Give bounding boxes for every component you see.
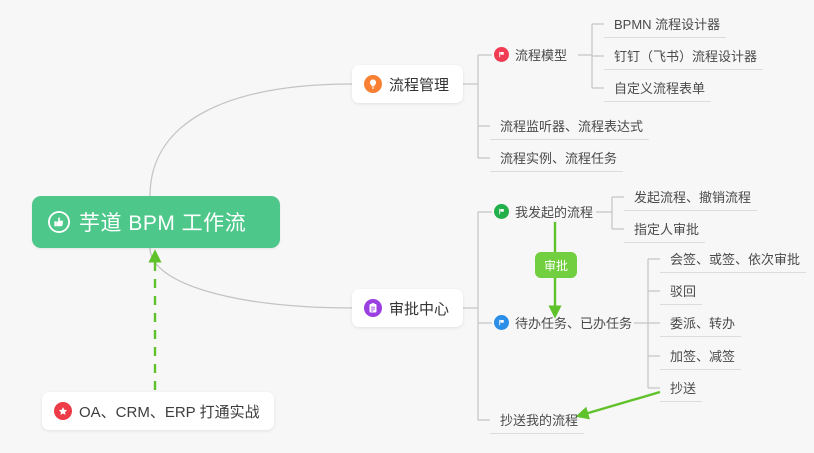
edge-tag-approval[interactable]: 审批	[535, 252, 577, 278]
leaf-label: 自定义流程表单	[614, 78, 705, 97]
leaf-delegate-transfer[interactable]: 委派、转办	[660, 309, 741, 337]
arrow-cc-to-my-cc	[578, 392, 660, 416]
leaf-label: 驳回	[670, 281, 696, 300]
leaf-label: 发起流程、撤销流程	[634, 187, 751, 206]
flag-icon	[494, 204, 509, 219]
leaf-dingtalk-designer[interactable]: 钉钉（飞书）流程设计器	[604, 42, 763, 70]
leaf-cc-to-me[interactable]: 抄送我的流程	[490, 406, 584, 434]
node-label: 审批中心	[389, 298, 449, 319]
leaf-label: 委派、转办	[670, 313, 735, 332]
root-label: 芋道 BPM 工作流	[79, 207, 246, 237]
node-label: 流程模型	[515, 45, 567, 64]
leaf-label: 加签、减签	[670, 346, 735, 365]
node-process-model[interactable]: 流程模型	[492, 41, 573, 69]
leaf-label: 流程监听器、流程表达式	[500, 116, 643, 135]
edge-root-to-process-management	[150, 84, 352, 196]
leaf-label: BPMN 流程设计器	[614, 14, 720, 33]
leaf-start-cancel-process[interactable]: 发起流程、撤销流程	[624, 183, 757, 211]
node-label: 流程管理	[389, 74, 449, 95]
leaf-countersign[interactable]: 会签、或签、依次审批	[660, 245, 806, 273]
node-label: 我发起的流程	[515, 202, 593, 221]
leaf-carbon-copy[interactable]: 抄送	[660, 374, 702, 402]
edge-tag-label: 审批	[544, 257, 568, 274]
leaf-label: 流程实例、流程任务	[500, 148, 617, 167]
leaf-bpmn-designer[interactable]: BPMN 流程设计器	[604, 10, 726, 38]
leaf-add-remove-sign[interactable]: 加签、减签	[660, 342, 741, 370]
leaf-label: 钉钉（飞书）流程设计器	[614, 46, 757, 65]
node-process-management[interactable]: 流程管理	[352, 65, 463, 103]
node-label: OA、CRM、ERP 打通实战	[79, 401, 260, 422]
flag-icon	[494, 315, 509, 330]
node-my-initiated[interactable]: 我发起的流程	[492, 198, 599, 226]
leaf-label: 会签、或签、依次审批	[670, 249, 800, 268]
leaf-custom-form[interactable]: 自定义流程表单	[604, 74, 711, 102]
lightbulb-icon	[364, 75, 382, 93]
node-approval-center[interactable]: 审批中心	[352, 289, 463, 327]
mindmap-canvas: 芋道 BPM 工作流 流程管理 流程模型 BPMN 流程设计器 钉钉（飞书）流程…	[0, 0, 814, 453]
leaf-reject[interactable]: 驳回	[660, 277, 702, 305]
edge-root-to-approval-center	[150, 248, 352, 308]
leaf-process-instance[interactable]: 流程实例、流程任务	[490, 144, 623, 172]
leaf-process-listener[interactable]: 流程监听器、流程表达式	[490, 112, 649, 140]
node-todo-done-tasks[interactable]: 待办任务、已办任务	[492, 309, 638, 337]
node-oa-crm-erp[interactable]: OA、CRM、ERP 打通实战	[42, 392, 274, 430]
flag-icon	[494, 47, 509, 62]
clipboard-icon	[364, 299, 382, 317]
leaf-label: 指定人审批	[634, 219, 699, 238]
node-label: 待办任务、已办任务	[515, 313, 632, 332]
leaf-assignee-approval[interactable]: 指定人审批	[624, 215, 705, 243]
leaf-label: 抄送我的流程	[500, 410, 578, 429]
leaf-label: 抄送	[670, 378, 696, 397]
star-icon	[54, 402, 72, 420]
root-node[interactable]: 芋道 BPM 工作流	[32, 196, 280, 248]
thumbs-up-icon	[48, 211, 70, 233]
